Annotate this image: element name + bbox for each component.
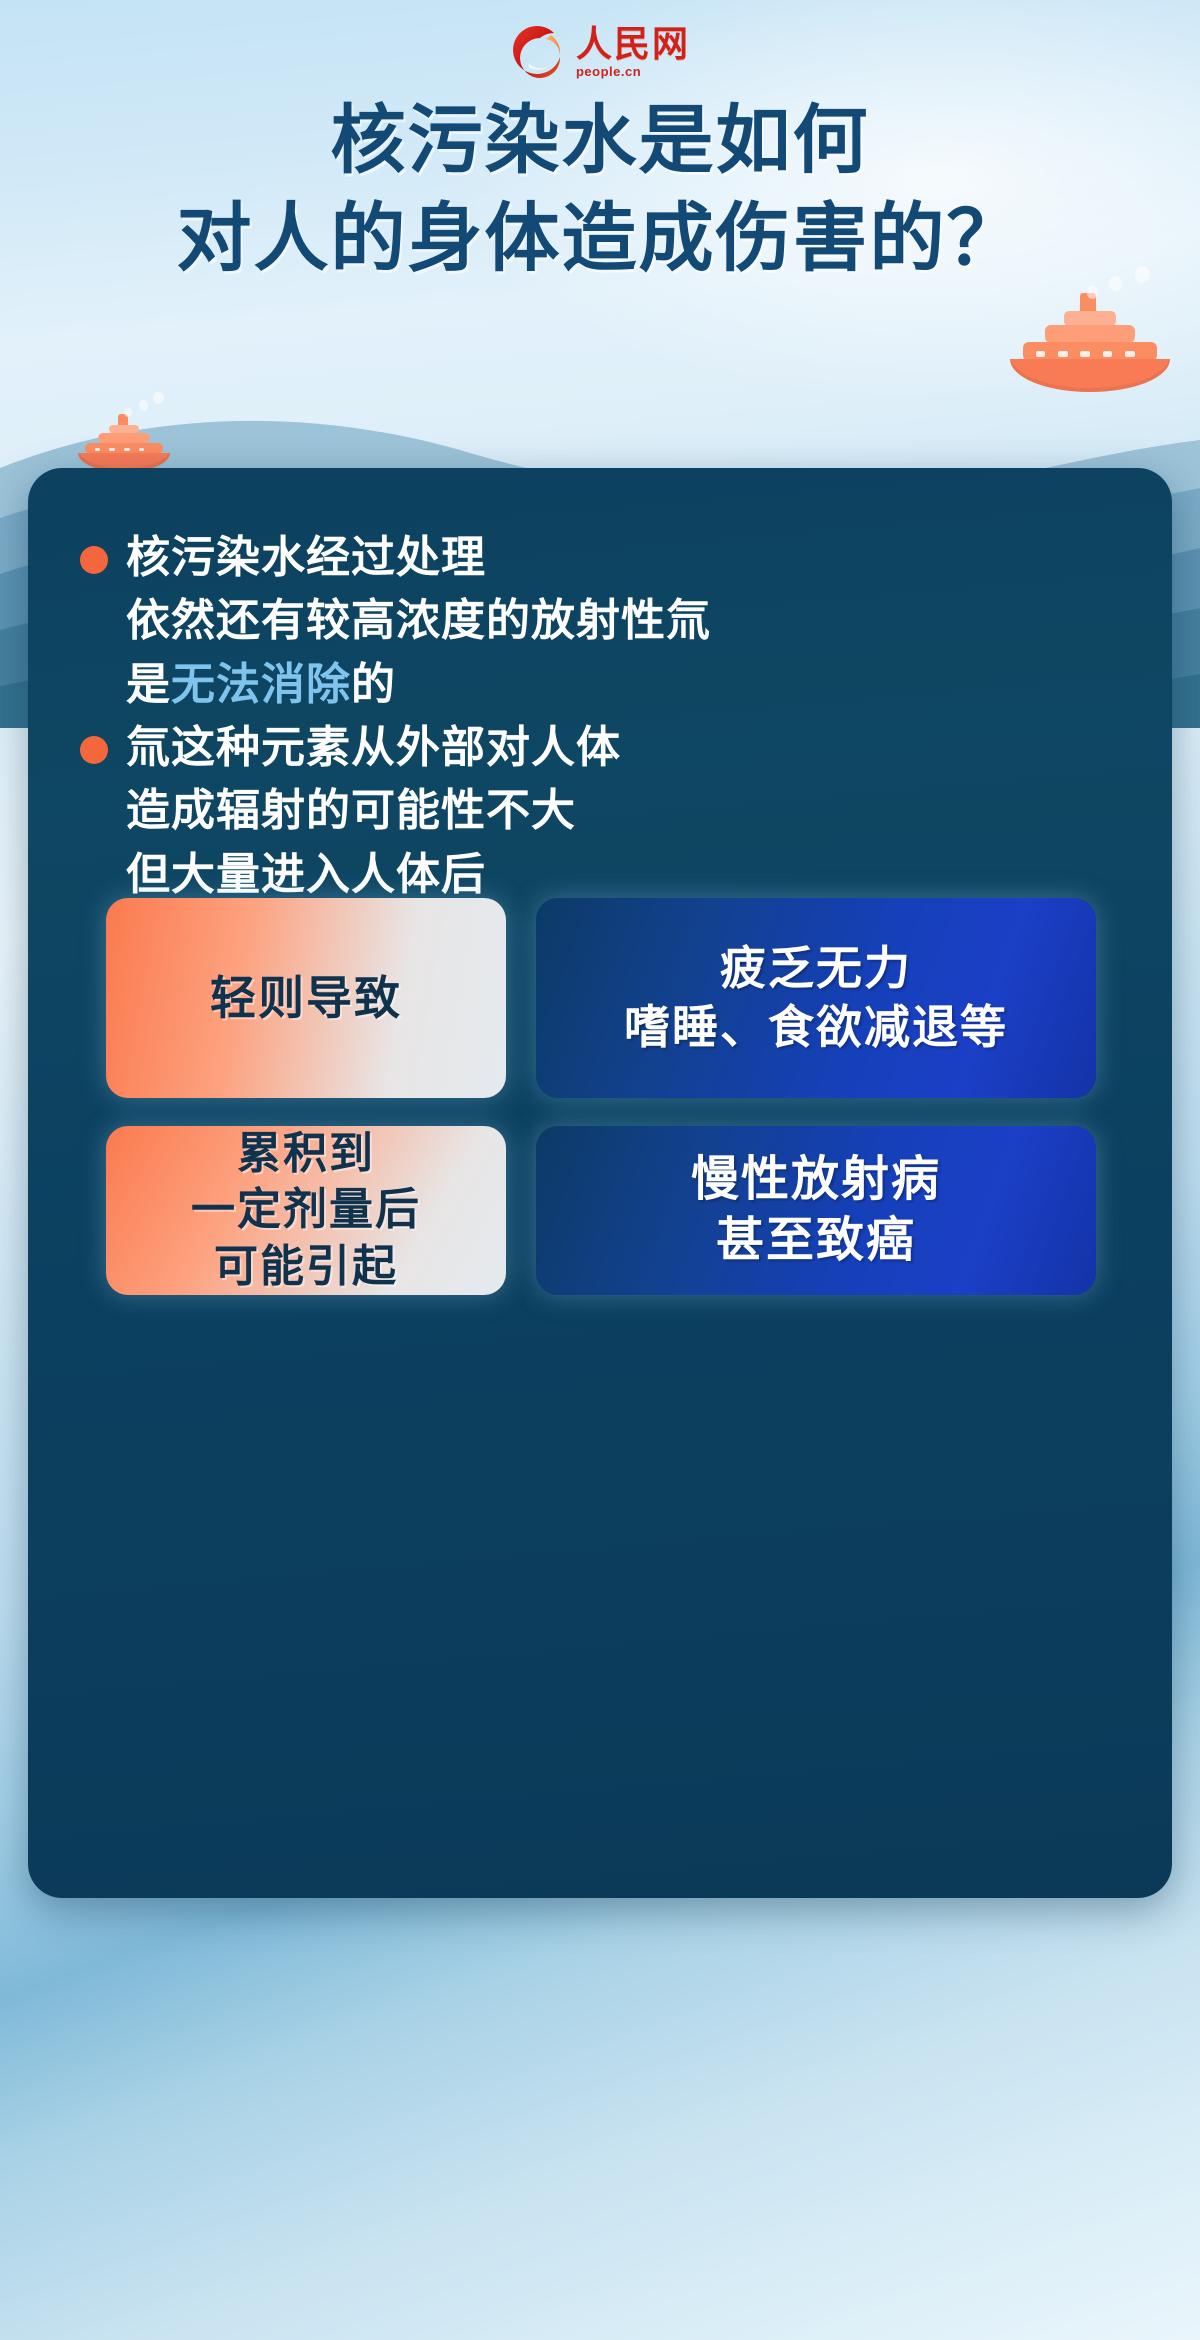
effect-boxes-grid: 轻则导致 疲乏无力 嗜睡、食欲减退等 累积到 一定剂量后 可能引起 慢性放射病 … bbox=[106, 898, 1096, 1295]
box-line: 疲乏无力 bbox=[720, 939, 912, 998]
content-card: 核污染水经过处理 依然还有较高浓度的放射性氚 是无法消除的 氚这种元素从外部对人… bbox=[28, 468, 1172, 1898]
bullet-text: 氚这种元素从外部对人体 bbox=[126, 716, 621, 779]
bullet-spacer bbox=[80, 843, 108, 871]
bullet-item-2: 依然还有较高浓度的放射性氚 bbox=[80, 589, 1132, 652]
cargo-ship-icon-large bbox=[1010, 300, 1170, 392]
bullet-item-4: 氚这种元素从外部对人体 bbox=[80, 716, 1132, 779]
bullet-dot-icon bbox=[80, 546, 108, 574]
bullet-spacer bbox=[80, 589, 108, 617]
bullet-suffix: 的 bbox=[351, 660, 396, 709]
bullet-text: 但大量进入人体后 bbox=[126, 843, 486, 906]
box-line: 累积到 bbox=[237, 1126, 375, 1182]
box-line: 一定剂量后 bbox=[191, 1182, 421, 1238]
bullet-item-1: 核污染水经过处理 bbox=[80, 526, 1132, 589]
bullet-text: 核污染水经过处理 bbox=[126, 526, 486, 589]
box-line: 轻则导致 bbox=[210, 969, 402, 1028]
people-cn-swirl-logo-icon bbox=[510, 24, 566, 80]
box-severe-result: 慢性放射病 甚至致癌 bbox=[536, 1126, 1096, 1295]
cargo-ship-icon-small bbox=[78, 418, 170, 472]
logo-chinese-text: 人民网 bbox=[576, 26, 690, 62]
bullet-prefix: 是 bbox=[126, 660, 171, 709]
bullet-spacer bbox=[80, 653, 108, 681]
infographic-poster: 人民网 people.cn 核污染水是如何 对人的身体造成伤害的？ bbox=[0, 0, 1200, 2340]
box-accumulate: 累积到 一定剂量后 可能引起 bbox=[106, 1126, 506, 1295]
box-mild-symptoms: 疲乏无力 嗜睡、食欲减退等 bbox=[536, 898, 1096, 1098]
box-mild-cause: 轻则导致 bbox=[106, 898, 506, 1098]
bullet-item-6: 但大量进入人体后 bbox=[80, 843, 1132, 906]
title-line-1: 核污染水是如何 bbox=[0, 95, 1200, 187]
bullet-highlight: 无法消除 bbox=[171, 660, 351, 709]
box-line: 甚至致癌 bbox=[716, 1210, 916, 1271]
box-line: 可能引起 bbox=[214, 1239, 398, 1295]
bullet-dot-icon bbox=[80, 736, 108, 764]
box-line: 慢性放射病 bbox=[691, 1149, 941, 1210]
page-title: 核污染水是如何 对人的身体造成伤害的？ bbox=[0, 95, 1200, 284]
title-line-2: 对人的身体造成伤害的？ bbox=[0, 193, 1200, 285]
bullet-text: 造成辐射的可能性不大 bbox=[126, 779, 576, 842]
bullet-text: 依然还有较高浓度的放射性氚 bbox=[126, 589, 711, 652]
bullet-item-3: 是无法消除的 bbox=[80, 653, 1132, 716]
bullet-list: 核污染水经过处理 依然还有较高浓度的放射性氚 是无法消除的 氚这种元素从外部对人… bbox=[80, 526, 1132, 906]
brand-logo: 人民网 people.cn bbox=[0, 24, 1200, 80]
box-line: 嗜睡、食欲减退等 bbox=[624, 998, 1008, 1057]
bullet-text-composite: 是无法消除的 bbox=[126, 653, 396, 716]
bullet-spacer bbox=[80, 779, 108, 807]
bullet-item-5: 造成辐射的可能性不大 bbox=[80, 779, 1132, 842]
logo-english-text: people.cn bbox=[576, 65, 641, 78]
